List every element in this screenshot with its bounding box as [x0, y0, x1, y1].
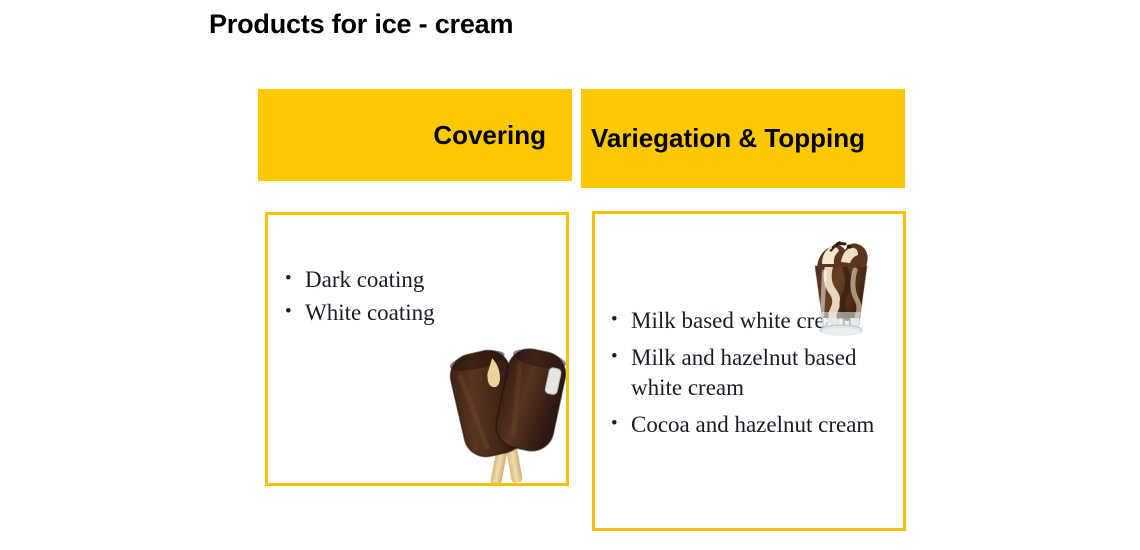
slide-canvas: Products for ice - cream Covering Varieg…: [0, 0, 1140, 550]
page-title: Products for ice - cream: [209, 9, 513, 40]
list-item-label: Milk and hazelnut based white cream: [631, 345, 856, 401]
column-header-variegation: Variegation & Topping: [581, 89, 905, 188]
bullet-icon: •: [611, 410, 618, 439]
bullet-icon: •: [285, 298, 292, 327]
column-header-covering: Covering: [258, 89, 572, 181]
bullet-icon: •: [611, 306, 618, 335]
chocolate-ice-cream-bars-image: [446, 337, 568, 486]
bullet-icon: •: [611, 343, 618, 372]
bullet-list-covering: • Dark coating • White coating: [285, 265, 545, 330]
list-item: • Dark coating: [285, 265, 545, 296]
list-item: • White coating: [285, 298, 545, 329]
content-box-covering: • Dark coating • White coating: [265, 212, 569, 486]
column-header-covering-label: Covering: [433, 120, 546, 151]
column-header-variegation-label: Variegation & Topping: [591, 123, 865, 154]
bullet-icon: •: [285, 265, 292, 294]
content-box-variegation: • Milk based white cream • Milk and haze…: [592, 211, 906, 531]
chocolate-sundae-glass-image: [795, 220, 887, 342]
list-item-label: White coating: [305, 300, 435, 325]
list-item: • Cocoa and hazelnut cream: [611, 410, 896, 441]
list-item: • Milk and hazelnut based white cream: [611, 343, 896, 404]
list-item-label: Cocoa and hazelnut cream: [631, 412, 874, 437]
list-item-label: Dark coating: [305, 267, 424, 292]
